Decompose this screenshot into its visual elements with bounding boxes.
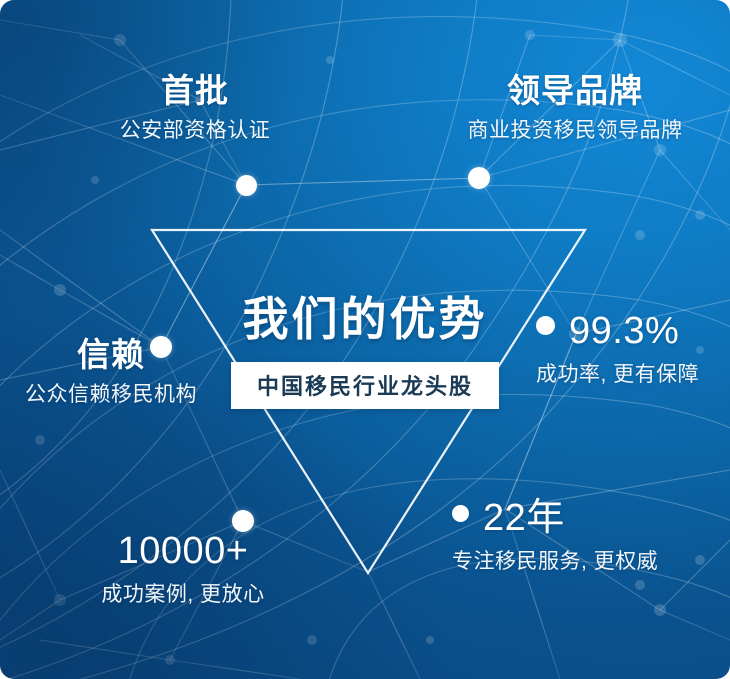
node-dot-bottom-right [452,505,469,522]
stat-bottom-left-headline: 10000+ [52,530,314,574]
stat-bottom-left-sub: 成功案例, 更放心 [52,583,314,607]
stat-top-left-sub: 公安部资格认证 [30,119,360,143]
stat-top-left-headline: 首批 [30,72,360,110]
stat-top-right-headline: 领导品牌 [430,72,720,110]
stat-top-left: 首批 公安部资格认证 [30,72,360,143]
stat-top-right-sub: 商业投资移民领导品牌 [430,119,720,143]
tagline-badge: 中国移民行业龙头股 [231,362,499,409]
node-dot-bottom-left [232,510,254,532]
stat-bottom-left: 10000+ 成功案例, 更放心 [52,530,314,607]
advantages-banner: 首批 公安部资格认证 领导品牌 商业投资移民领导品牌 信赖 公众信赖移民机构 9… [0,0,730,679]
stat-bottom-right-value: 22年 [483,497,565,539]
stat-bottom-right-sub: 专注移民服务, 更权威 [452,550,724,574]
stat-bottom-right-headline: 22年 [452,497,724,541]
center-block: 我们的优势 中国移民行业龙头股 [0,296,730,409]
stat-top-right: 领导品牌 商业投资移民领导品牌 [430,72,720,143]
stat-bottom-right: 22年 专注移民服务, 更权威 [452,497,724,574]
node-dot-top-left [236,175,257,196]
page-title: 我们的优势 [0,296,730,342]
node-dot-top-right [468,167,490,189]
